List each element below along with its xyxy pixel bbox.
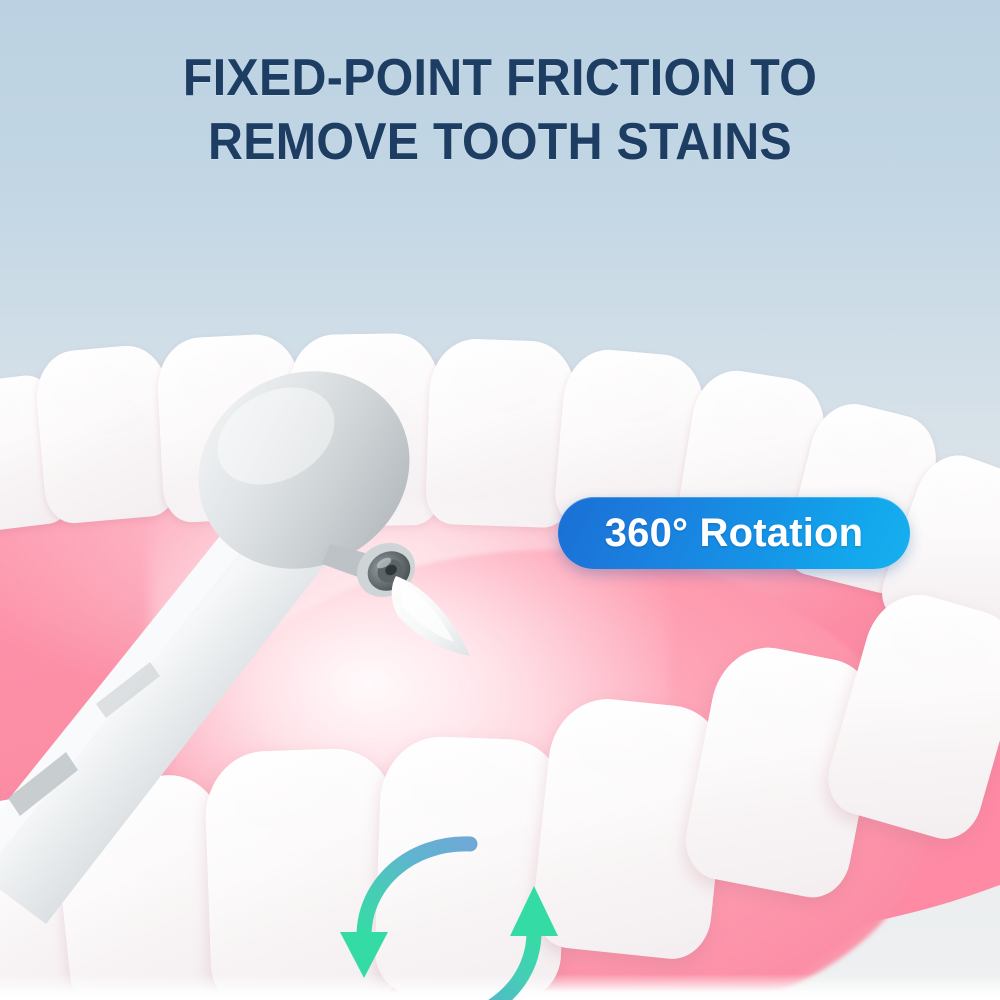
rotation-arrows-icon — [338, 828, 568, 1000]
mouth-illustration — [0, 300, 1000, 1000]
headline-line-1: FIXED-POINT FRICTION TO — [35, 52, 965, 104]
rotation-badge-label: 360° Rotation — [605, 511, 864, 556]
rotation-badge[interactable]: 360° Rotation — [558, 497, 910, 569]
page-title: FIXED-POINT FRICTION TO REMOVE TOOTH STA… — [0, 52, 1000, 168]
product-feature-image: FIXED-POINT FRICTION TO REMOVE TOOTH STA… — [0, 0, 1000, 1000]
headline-line-2: REMOVE TOOTH STAINS — [35, 116, 965, 168]
